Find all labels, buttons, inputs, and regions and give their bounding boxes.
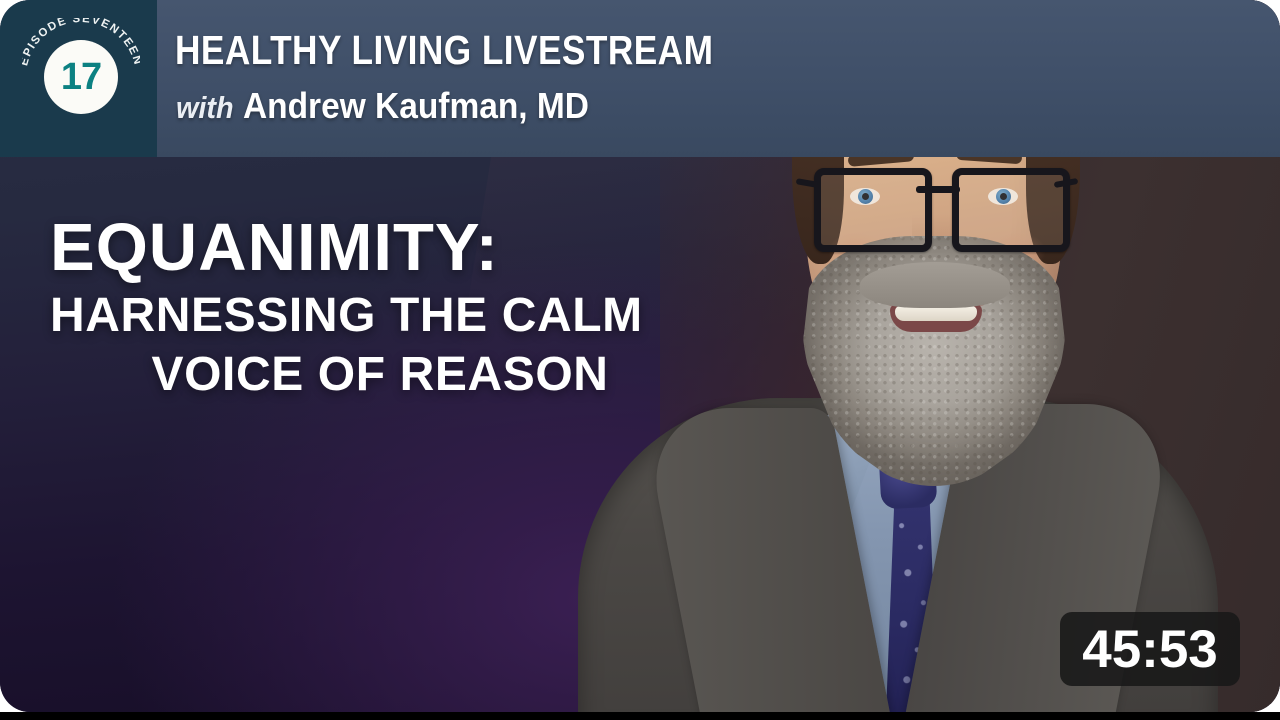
bottom-letterbox-strip (0, 712, 1280, 720)
header-band (0, 0, 1280, 157)
portrait-moustache (860, 262, 1010, 308)
episode-title-line-1: EQUANIMITY: (50, 214, 770, 282)
show-title: HEALTHY LIVING LIVESTREAM (175, 30, 713, 71)
duration-label: 45:53 (1082, 623, 1218, 676)
episode-title-line-3: VOICE OF REASON (50, 347, 710, 404)
glasses-bridge (916, 186, 960, 193)
episode-title-line-2: HARNESSING THE CALM (50, 288, 770, 345)
glasses-lens-left (814, 168, 932, 252)
show-host-name: Andrew Kaufman, MD (243, 85, 589, 126)
episode-title: EQUANIMITY: HARNESSING THE CALM VOICE OF… (50, 214, 770, 404)
episode-badge-disc: 17 (44, 40, 118, 114)
portrait-teeth (895, 306, 977, 321)
show-host-prefix: with (176, 90, 234, 125)
portrait-mouth (890, 304, 982, 332)
glasses-lens-right (952, 168, 1070, 252)
video-thumbnail: EPISODE SEVENTEEN 17 HEALTHY LIVING LIVE… (0, 0, 1280, 720)
duration-badge: 45:53 (1060, 612, 1240, 686)
glasses-icon (812, 166, 1062, 244)
episode-badge: EPISODE SEVENTEEN 17 (22, 18, 140, 136)
episode-number: 17 (61, 58, 101, 96)
show-host: with Andrew Kaufman, MD (176, 88, 589, 124)
thumbnail-card: EPISODE SEVENTEEN 17 HEALTHY LIVING LIVE… (0, 0, 1280, 712)
